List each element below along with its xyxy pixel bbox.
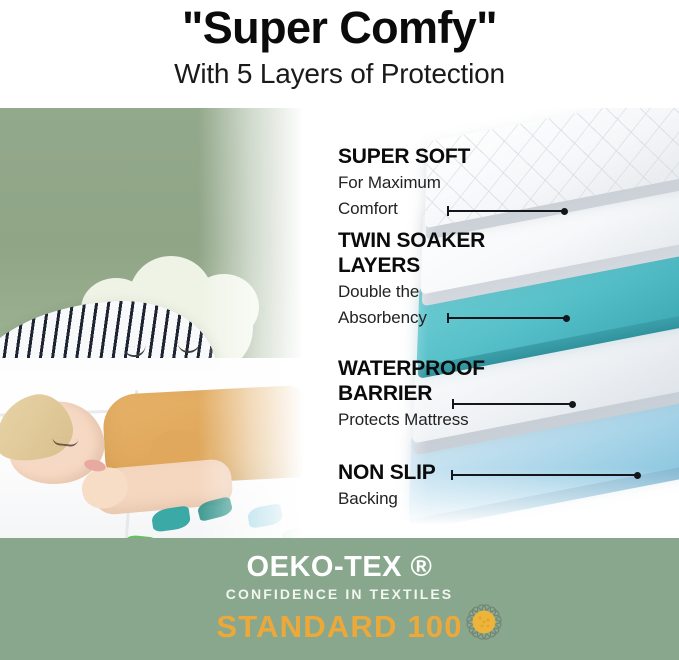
leader-line-super-soft: [447, 210, 565, 212]
page-title: "Super Comfy": [0, 2, 679, 54]
lifestyle-photo: [0, 108, 318, 538]
product-infographic: "Super Comfy" With 5 Layers of Protectio…: [0, 0, 679, 660]
certification-footer: OEKO-TEX ® CONFIDENCE IN TEXTILES STANDA…: [0, 538, 679, 660]
oeko-tex-medallion-icon: [448, 588, 520, 656]
oeko-tex-standard: STANDARD 100: [0, 608, 679, 646]
oeko-tex-badge: OEKO-TEX ® CONFIDENCE IN TEXTILES STANDA…: [0, 538, 679, 660]
leader-line-waterproof: [452, 403, 573, 405]
quilted-top-layer: [426, 116, 679, 202]
oeko-tex-tagline: CONFIDENCE IN TEXTILES: [0, 585, 679, 603]
leader-line-twin-soaker: [447, 317, 567, 319]
photo-fade-overlay: [198, 108, 318, 538]
oeko-tex-brand: OEKO-TEX ®: [0, 550, 679, 584]
page-subtitle: With 5 Layers of Protection: [0, 57, 679, 91]
header: "Super Comfy" With 5 Layers of Protectio…: [0, 0, 679, 108]
leader-line-non-slip: [451, 474, 638, 476]
stack-fade-bottom: [318, 468, 679, 538]
